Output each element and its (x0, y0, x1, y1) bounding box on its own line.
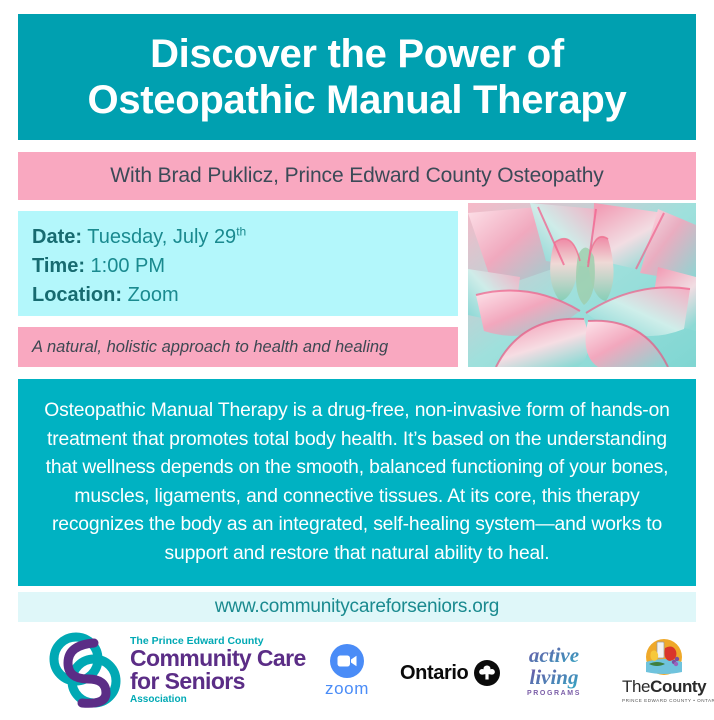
detail-label-date: Date: (32, 226, 82, 248)
header-title-line1: Discover the Power of (150, 31, 564, 77)
community-care-wordmark: The Prince Edward County Community Care … (130, 635, 306, 706)
presenter-band: With Brad Puklicz, Prince Edward County … (18, 152, 696, 200)
detail-row-location: Location: Zoom (32, 281, 458, 310)
event-poster: Discover the Power of Osteopathic Manual… (0, 0, 714, 720)
zoom-wordmark: zoom (315, 679, 379, 699)
detail-row-date: Date: Tuesday, July 29th (32, 223, 458, 252)
event-details-box: Date: Tuesday, July 29th Time: 1:00 PM L… (18, 211, 458, 316)
website-url[interactable]: www.communitycareforseniors.org (215, 596, 499, 618)
community-care-mark-icon (48, 631, 126, 709)
the-county-emblem-icon (641, 638, 687, 676)
website-band[interactable]: www.communitycareforseniors.org (18, 592, 696, 622)
cc-main-line1: Community Care (130, 647, 306, 670)
poster-header: Discover the Power of Osteopathic Manual… (18, 14, 696, 140)
active-living-programs-label: PROGRAMS (512, 690, 596, 697)
svg-text:living: living (529, 665, 578, 689)
tagline-text: A natural, holistic approach to health a… (32, 338, 388, 357)
footer-logos: The Prince Edward County Community Care … (0, 622, 714, 720)
zoom-camera-icon (330, 644, 364, 678)
detail-label-time: Time: (32, 255, 85, 277)
ontario-logo: Ontario (400, 660, 500, 686)
the-county-tagline: PRINCE EDWARD COUNTY • ONTARIO (622, 698, 706, 703)
flower-photo (468, 203, 696, 367)
ontario-wordmark: Ontario (400, 662, 468, 685)
tagline-box: A natural, holistic approach to health a… (18, 327, 458, 367)
presenter-text: With Brad Puklicz, Prince Edward County … (110, 164, 603, 188)
svg-text:active: active (529, 643, 579, 667)
cc-bottom-line: Association (130, 693, 306, 706)
active-living-logo: active living PROGRAMS (512, 638, 596, 697)
the-county-wordmark: TheCounty (622, 677, 706, 697)
detail-label-location: Location: (32, 284, 122, 306)
cc-main-line2: for Seniors (130, 670, 306, 693)
zoom-logo: zoom (315, 644, 379, 699)
the-county-logo: TheCounty PRINCE EDWARD COUNTY • ONTARIO (622, 638, 706, 703)
active-living-script-icon: active living (512, 638, 596, 692)
detail-value-location: Zoom (128, 284, 179, 306)
detail-date-ordinal: th (236, 224, 246, 238)
community-care-logo: The Prince Edward County Community Care … (48, 628, 310, 712)
flower-photo-graphic (468, 203, 696, 367)
detail-value-date: Tuesday, July 29th (87, 226, 246, 248)
ontario-trillium-icon (474, 660, 500, 686)
detail-row-time: Time: 1:00 PM (32, 252, 458, 281)
detail-value-time: 1:00 PM (91, 255, 165, 277)
header-title-line2: Osteopathic Manual Therapy (88, 77, 627, 123)
description-text: Osteopathic Manual Therapy is a drug-fre… (34, 397, 680, 568)
description-block: Osteopathic Manual Therapy is a drug-fre… (18, 379, 696, 586)
